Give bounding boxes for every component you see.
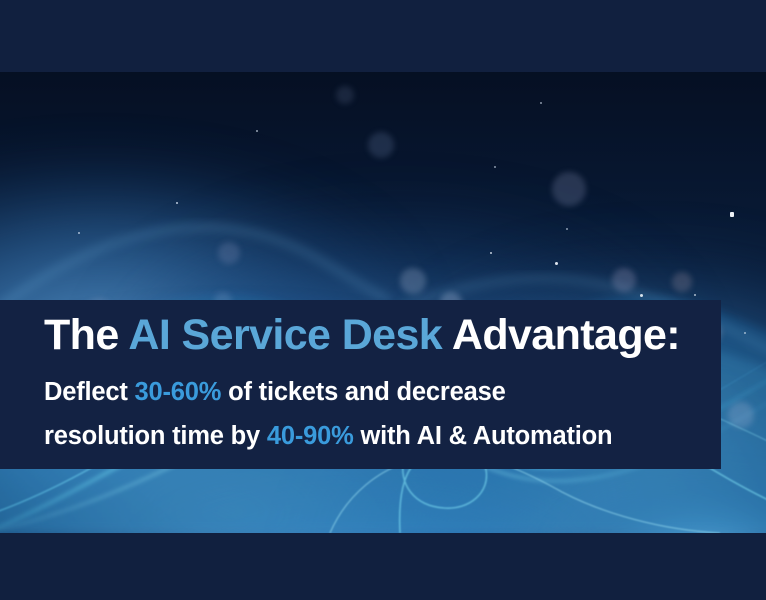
bokeh-dot xyxy=(400,268,426,294)
subheadline-line-2: resolution time by 40-90% with AI & Auto… xyxy=(44,417,721,457)
spark-dot xyxy=(490,252,492,254)
spark-dot xyxy=(540,102,542,104)
bokeh-dot xyxy=(552,172,586,206)
top-navy-band xyxy=(0,0,766,72)
bottom-navy-band xyxy=(0,533,766,600)
headline-part1: The xyxy=(44,311,128,359)
spark-dot xyxy=(640,294,643,297)
subline1-accent-stat: 30-60% xyxy=(135,378,222,406)
spark-dot xyxy=(256,130,258,132)
bokeh-dot xyxy=(672,272,692,292)
headline-panel: The AI Service Desk Advantage: Deflect 3… xyxy=(0,300,721,469)
spark-dot xyxy=(78,232,80,234)
bokeh-dot xyxy=(368,132,394,158)
hero-banner: The AI Service Desk Advantage: Deflect 3… xyxy=(0,0,766,600)
bokeh-dot xyxy=(612,268,636,292)
subline2-part2: with AI & Automation xyxy=(354,422,613,450)
spark-dot xyxy=(730,212,734,217)
subline1-part1: Deflect xyxy=(44,378,135,406)
page-title: The AI Service Desk Advantage: xyxy=(44,314,721,357)
bokeh-dot xyxy=(336,86,354,104)
spark-dot xyxy=(176,202,178,204)
spark-dot xyxy=(566,228,568,230)
bokeh-dot xyxy=(218,242,240,264)
bokeh-dot xyxy=(728,402,754,428)
spark-dot xyxy=(694,294,696,296)
spark-dot xyxy=(555,262,558,265)
subline2-accent-stat: 40-90% xyxy=(267,422,354,450)
subline1-part2: of tickets and decrease xyxy=(221,378,505,406)
spark-dot xyxy=(744,332,746,334)
spark-dot xyxy=(494,166,496,168)
subline2-part1: resolution time by xyxy=(44,422,267,450)
headline-part2: Advantage: xyxy=(442,311,680,359)
subheadline-line-1: Deflect 30-60% of tickets and decrease xyxy=(44,373,721,413)
headline-accent: AI Service Desk xyxy=(128,311,442,359)
